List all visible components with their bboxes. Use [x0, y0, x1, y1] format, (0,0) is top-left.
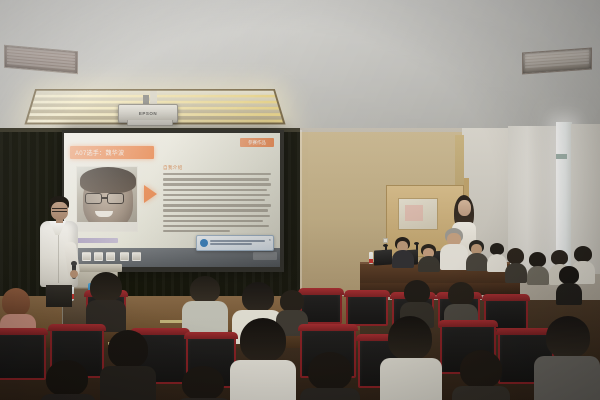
audience-m3 [182, 276, 228, 330]
judge-bottle-1 [369, 252, 373, 264]
presentation-slide: 参赛作品 A07选手：魏华波 自我介绍 [64, 133, 280, 248]
audience-r5 [556, 266, 582, 302]
judge-4 [466, 240, 488, 270]
presenter-in-lab-coat [38, 196, 80, 308]
presenter-glasses [52, 208, 67, 212]
audience-f6 [452, 350, 510, 400]
taskbar-icon-5[interactable] [132, 252, 141, 261]
audience-f4 [100, 330, 156, 400]
taskbar-icon-2[interactable] [94, 252, 103, 261]
projection-screen: 参赛作品 A07选手：魏华波 自我介绍 [64, 133, 280, 267]
judge-5 [487, 243, 507, 271]
notification-icon [200, 239, 208, 247]
judge-1 [392, 237, 414, 267]
notification-toast[interactable]: × [196, 235, 274, 251]
slide-tag-badge: 参赛作品 [240, 138, 274, 147]
room-photo-scene: EPSON 参赛作品 A07选手：魏华波 [0, 0, 600, 400]
audience-f8 [176, 366, 232, 400]
taskbar-icon-4[interactable] [120, 252, 129, 261]
floor-tape-1 [160, 320, 184, 323]
woman-face [458, 200, 471, 216]
notification-text [210, 240, 270, 247]
taskbar-icon-3[interactable] [106, 252, 115, 261]
audience-f1 [230, 318, 296, 400]
portrait-glasses-left [85, 193, 102, 204]
portrait-shirt [77, 222, 138, 231]
audience-f3 [534, 316, 600, 400]
door-window-reflection [405, 205, 423, 221]
system-tray[interactable] [253, 252, 277, 260]
audience-r1 [505, 248, 527, 280]
slide-portrait-photo [76, 166, 138, 232]
portrait-hair [80, 167, 136, 193]
wall-switch[interactable] [383, 238, 388, 243]
slide-subhead: 自我介绍 [163, 165, 271, 171]
window-latch [556, 154, 567, 159]
slide-title: A07选手：魏华波 [70, 146, 154, 159]
laptop-1[interactable] [374, 249, 392, 265]
audience-f5 [300, 352, 360, 400]
play-triangle-icon [144, 185, 157, 203]
audience-f7 [40, 360, 96, 400]
judge-2 [418, 244, 440, 270]
portrait-glasses-bridge [102, 197, 107, 199]
audience-f2 [380, 316, 442, 400]
portrait-glasses-right [107, 193, 124, 204]
slide-body-text: 自我介绍 [163, 165, 271, 235]
presenter-legs [46, 285, 72, 307]
taskbar-icon-1[interactable] [82, 252, 91, 261]
audience-r2 [527, 252, 549, 282]
close-icon[interactable]: × [269, 237, 271, 242]
judge-3 [440, 228, 468, 270]
presenter-hand [70, 270, 78, 278]
audience-m2 [84, 272, 128, 328]
